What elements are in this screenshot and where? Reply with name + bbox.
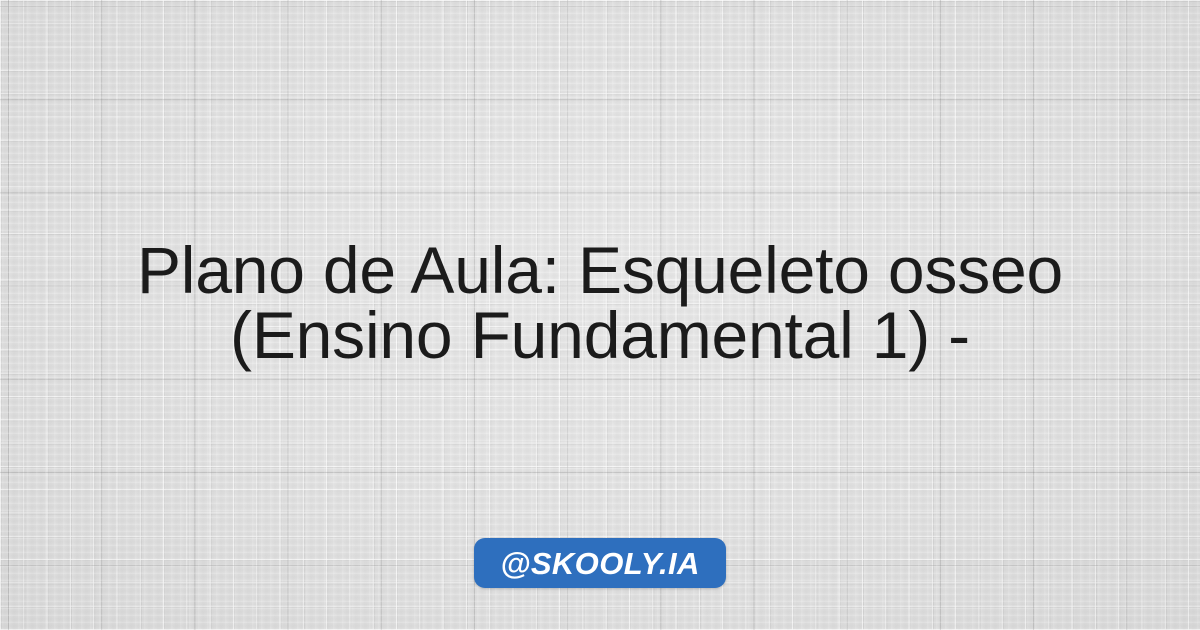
brand-badge[interactable]: @SKOOLY.IA [474, 538, 726, 588]
share-card: Plano de Aula: Esqueleto osseo (Ensino F… [0, 0, 1200, 630]
page-title-text: Plano de Aula: Esqueleto osseo (Ensino F… [40, 238, 1160, 368]
page-title: Plano de Aula: Esqueleto osseo (Ensino F… [0, 238, 1200, 368]
brand-badge-label: @SKOOLY.IA [500, 548, 700, 579]
badge-row: @SKOOLY.IA [0, 538, 1200, 588]
